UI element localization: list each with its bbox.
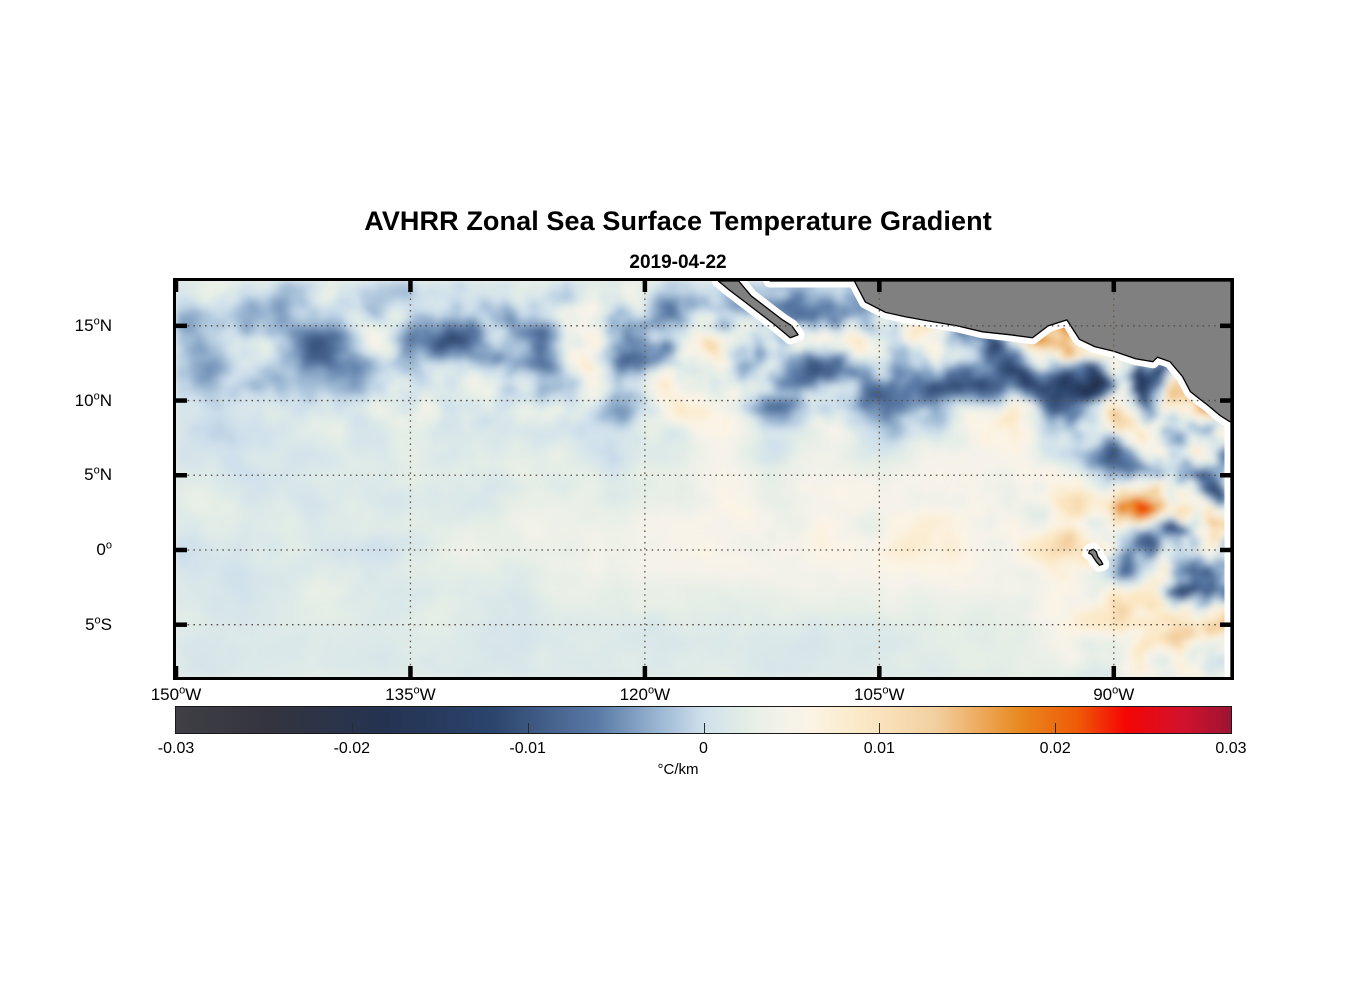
y-tick-label: 10oN <box>75 391 112 411</box>
figure-root: AVHRR Zonal Sea Surface Temperature Grad… <box>0 0 1356 1000</box>
y-tick-label: 5oS <box>85 615 112 635</box>
y-tick-label: 5oN <box>84 465 112 485</box>
x-tick-label: 90oW <box>1093 685 1134 705</box>
colorbar-tick <box>352 723 353 733</box>
colorbar-tick-label: -0.02 <box>334 740 370 758</box>
colorbar-tick <box>528 723 529 733</box>
colorbar-tick-label: 0 <box>699 740 708 758</box>
map-canvas <box>176 281 1231 677</box>
gridlines-layer <box>176 281 1231 677</box>
x-tick-label: 135oW <box>385 685 436 705</box>
colorbar-tick <box>879 723 880 733</box>
x-tick-label: 120oW <box>620 685 671 705</box>
colorbar[interactable] <box>176 707 1231 733</box>
colorbar-tick <box>1055 723 1056 733</box>
y-tick-label: 15oN <box>75 316 112 336</box>
colorbar-tick <box>704 723 705 733</box>
colorbar-tick-label: -0.03 <box>158 740 194 758</box>
x-tick-label: 150oW <box>151 685 202 705</box>
colorbar-tick-label: -0.01 <box>509 740 545 758</box>
figure-subtitle: 2019-04-22 <box>0 252 1356 274</box>
colorbar-unit-label: °C/km <box>0 761 1356 778</box>
colorbar-tick-label: 0.03 <box>1215 740 1246 758</box>
y-tick-label: 0o <box>96 540 112 560</box>
map-plot-area[interactable] <box>176 281 1231 677</box>
x-tick-label: 105oW <box>854 685 905 705</box>
colorbar-tick-label: 0.01 <box>864 740 895 758</box>
figure-title: AVHRR Zonal Sea Surface Temperature Grad… <box>0 206 1356 237</box>
colorbar-tick-label: 0.02 <box>1040 740 1071 758</box>
